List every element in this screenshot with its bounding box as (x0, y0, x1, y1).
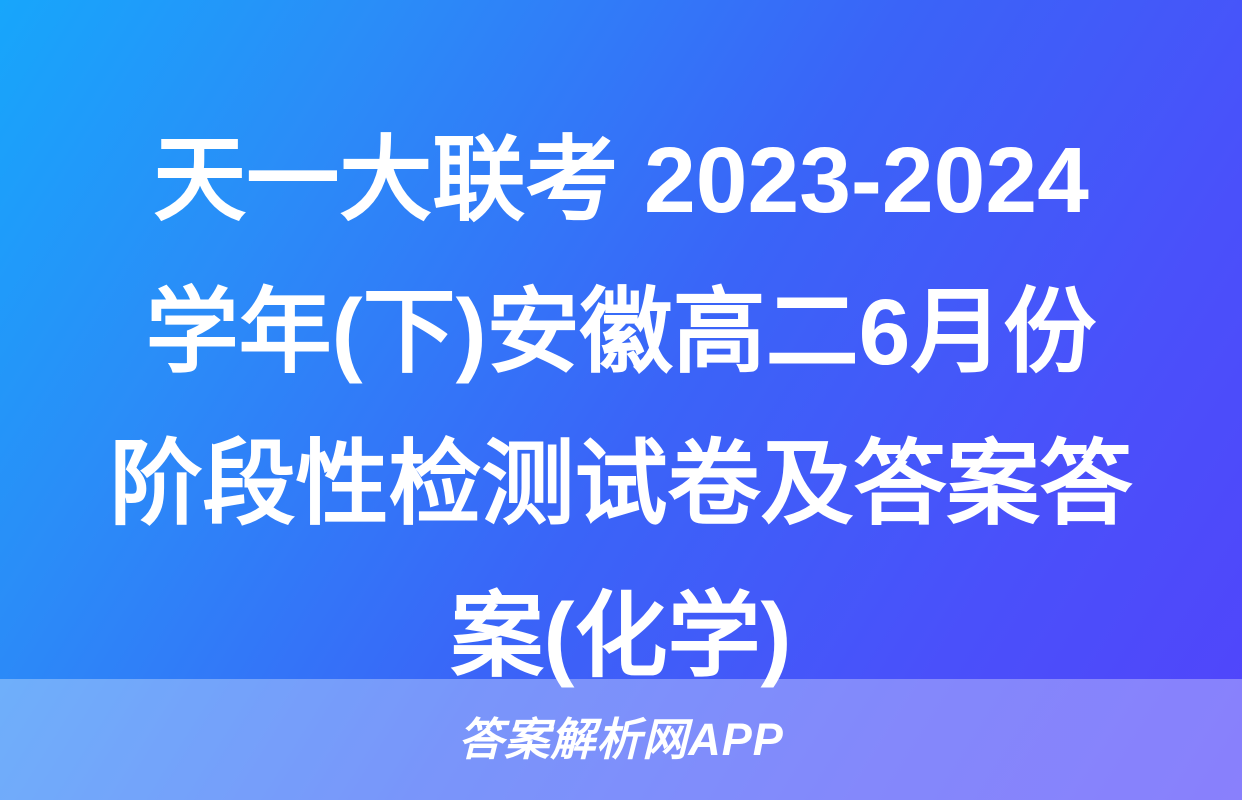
title-line-2: 学年(下)安徽高二6月份 (34, 256, 1208, 408)
poster-canvas: 天一大联考 2023-2024 学年(下)安徽高二6月份 阶段性检测试卷及答案答… (0, 0, 1242, 800)
title-line-3: 阶段性检测试卷及答案答 (34, 408, 1208, 560)
page-title: 天一大联考 2023-2024 学年(下)安徽高二6月份 阶段性检测试卷及答案答… (0, 104, 1242, 712)
app-watermark-label: 答案解析网APP (458, 717, 784, 762)
title-line-1: 天一大联考 2023-2024 (34, 104, 1208, 256)
footer-banner: 答案解析网APP (0, 679, 1242, 800)
